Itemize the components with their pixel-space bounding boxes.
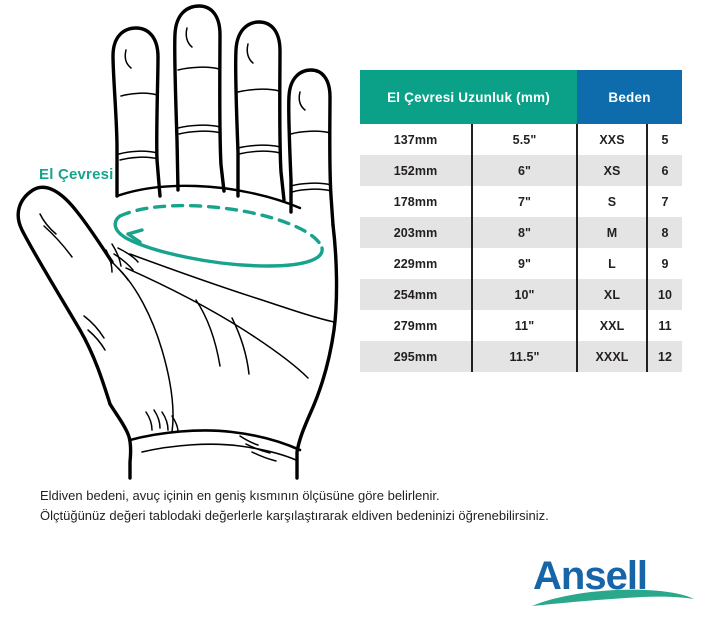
cell-num: 5 bbox=[647, 124, 682, 155]
glove-size-table: El Çevresi Uzunluk (mm) Beden 137mm5.5"X… bbox=[360, 70, 682, 372]
cell-size: XXS bbox=[577, 124, 647, 155]
cell-inch: 10" bbox=[472, 279, 577, 310]
cell-mm: 279mm bbox=[360, 310, 472, 341]
table-body: 137mm5.5"XXS5152mm6"XS6178mm7"S7203mm8"M… bbox=[360, 124, 682, 372]
table-row: 152mm6"XS6 bbox=[360, 155, 682, 186]
cell-size: XS bbox=[577, 155, 647, 186]
hand-outline-group bbox=[18, 6, 336, 478]
cell-num: 6 bbox=[647, 155, 682, 186]
cell-mm: 137mm bbox=[360, 124, 472, 155]
cell-size: XL bbox=[577, 279, 647, 310]
cell-num: 10 bbox=[647, 279, 682, 310]
cell-inch: 8" bbox=[472, 217, 577, 248]
hand-diagram-svg bbox=[0, 0, 352, 482]
size-chart-table: El Çevresi Uzunluk (mm) Beden 137mm5.5"X… bbox=[360, 70, 682, 372]
cell-mm: 254mm bbox=[360, 279, 472, 310]
table-header-row: El Çevresi Uzunluk (mm) Beden bbox=[360, 70, 682, 124]
cell-mm: 152mm bbox=[360, 155, 472, 186]
ansell-logo: Ansell bbox=[533, 556, 693, 606]
cell-inch: 6" bbox=[472, 155, 577, 186]
cell-mm: 178mm bbox=[360, 186, 472, 217]
table-row: 203mm8"M8 bbox=[360, 217, 682, 248]
cell-num: 9 bbox=[647, 248, 682, 279]
cell-num: 12 bbox=[647, 341, 682, 372]
cell-inch: 11.5" bbox=[472, 341, 577, 372]
cell-num: 7 bbox=[647, 186, 682, 217]
table-row: 178mm7"S7 bbox=[360, 186, 682, 217]
ansell-swoosh-icon bbox=[530, 587, 696, 609]
cell-size: M bbox=[577, 217, 647, 248]
cell-mm: 295mm bbox=[360, 341, 472, 372]
cell-size: XXL bbox=[577, 310, 647, 341]
cell-inch: 9" bbox=[472, 248, 577, 279]
table-row: 279mm11"XXL11 bbox=[360, 310, 682, 341]
footnote-line-1: Eldiven bedeni, avuç içinin en geniş kıs… bbox=[40, 486, 680, 506]
cell-size: XXXL bbox=[577, 341, 647, 372]
header-size: Beden bbox=[577, 70, 682, 124]
table-row: 254mm10"XL10 bbox=[360, 279, 682, 310]
cell-num: 8 bbox=[647, 217, 682, 248]
cell-size: S bbox=[577, 186, 647, 217]
table-row: 229mm9"L9 bbox=[360, 248, 682, 279]
header-hand-circumference: El Çevresi Uzunluk (mm) bbox=[360, 70, 577, 124]
table-header: El Çevresi Uzunluk (mm) Beden bbox=[360, 70, 682, 124]
table-row: 295mm11.5"XXXL12 bbox=[360, 341, 682, 372]
cell-inch: 11" bbox=[472, 310, 577, 341]
table-row: 137mm5.5"XXS5 bbox=[360, 124, 682, 155]
hand-illustration bbox=[0, 0, 352, 482]
cell-num: 11 bbox=[647, 310, 682, 341]
circumference-loop bbox=[115, 206, 322, 266]
footnote: Eldiven bedeni, avuç içinin en geniş kıs… bbox=[40, 486, 680, 526]
cell-mm: 229mm bbox=[360, 248, 472, 279]
hand-circumference-label: El Çevresi bbox=[39, 166, 114, 183]
cell-inch: 5.5" bbox=[472, 124, 577, 155]
cell-mm: 203mm bbox=[360, 217, 472, 248]
footnote-line-2: Ölçtüğünüz değeri tablodaki değerlerle k… bbox=[40, 506, 680, 526]
cell-size: L bbox=[577, 248, 647, 279]
cell-inch: 7" bbox=[472, 186, 577, 217]
